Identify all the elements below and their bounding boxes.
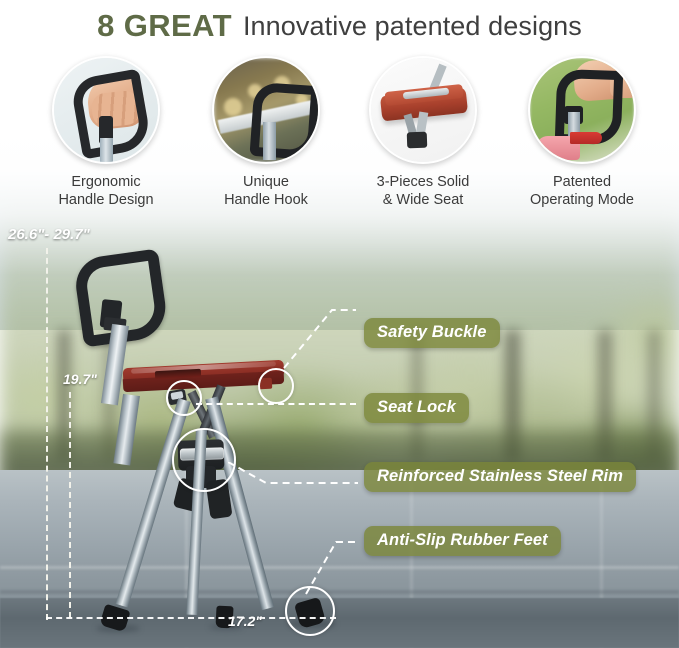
feature-card-wide-seat[interactable]: 3-Pieces Solid & Wide Seat <box>353 56 493 209</box>
callout-safety-buckle[interactable]: Safety Buckle <box>364 318 500 348</box>
steel-rim-highlight-ring <box>172 428 236 492</box>
handle-hook-icon <box>212 56 320 164</box>
caption-line-1: Ergonomic <box>36 173 176 191</box>
steel-rim-leader <box>228 462 358 486</box>
height-dimension-label: 26.6"- 29.7" <box>8 226 90 243</box>
seat-height-dimension-label: 19.7" <box>63 371 97 387</box>
height-dimension-line <box>46 248 48 620</box>
infographic-canvas: 8 GREAT Innovative patented designs Ergo… <box>0 0 679 648</box>
callout-seat-lock[interactable]: Seat Lock <box>364 393 469 423</box>
hand-on-handle-icon <box>52 56 160 164</box>
feature-caption-operating-mode: Patented Operating Mode <box>512 173 652 209</box>
caption-line-2: Handle Hook <box>196 191 336 209</box>
feature-card-ergonomic-handle[interactable]: Ergonomic Handle Design <box>36 56 176 209</box>
caption-line-2: & Wide Seat <box>353 191 493 209</box>
callout-steel-rim[interactable]: Reinforced Stainless Steel Rim <box>364 462 636 492</box>
base-width-dimension-line <box>46 617 336 619</box>
feature-card-operating-mode[interactable]: Patented Operating Mode <box>512 56 652 209</box>
wide-seat-icon <box>369 56 477 164</box>
base-width-dimension-label: 17.2" <box>228 613 262 629</box>
feature-thumbnail-row: Ergonomic Handle Design Unique Handle Ho… <box>0 56 679 221</box>
safety-buckle-highlight-ring <box>258 368 294 404</box>
title-highlight: 8 GREAT <box>97 8 232 44</box>
caption-line-2: Operating Mode <box>512 191 652 209</box>
safety-buckle-leader <box>278 302 356 372</box>
feature-caption-wide-seat: 3-Pieces Solid & Wide Seat <box>353 173 493 209</box>
seat-lock-leader <box>196 403 356 405</box>
title-subtext: Innovative patented designs <box>243 11 582 42</box>
callout-rubber-feet[interactable]: Anti-Slip Rubber Feet <box>364 526 561 556</box>
page-title: 8 GREAT Innovative patented designs <box>0 0 679 52</box>
feature-caption-ergonomic-handle: Ergonomic Handle Design <box>36 173 176 209</box>
seat-height-dimension-line <box>69 392 71 618</box>
feature-card-handle-hook[interactable]: Unique Handle Hook <box>196 56 336 209</box>
caption-line-1: Patented <box>512 173 652 191</box>
feature-caption-handle-hook: Unique Handle Hook <box>196 173 336 209</box>
caption-line-2: Handle Design <box>36 191 176 209</box>
rubber-feet-leader <box>300 538 358 598</box>
seat-lock-highlight-ring <box>166 380 202 416</box>
caption-line-1: 3-Pieces Solid <box>353 173 493 191</box>
caption-line-1: Unique <box>196 173 336 191</box>
operating-mode-icon <box>528 56 636 164</box>
